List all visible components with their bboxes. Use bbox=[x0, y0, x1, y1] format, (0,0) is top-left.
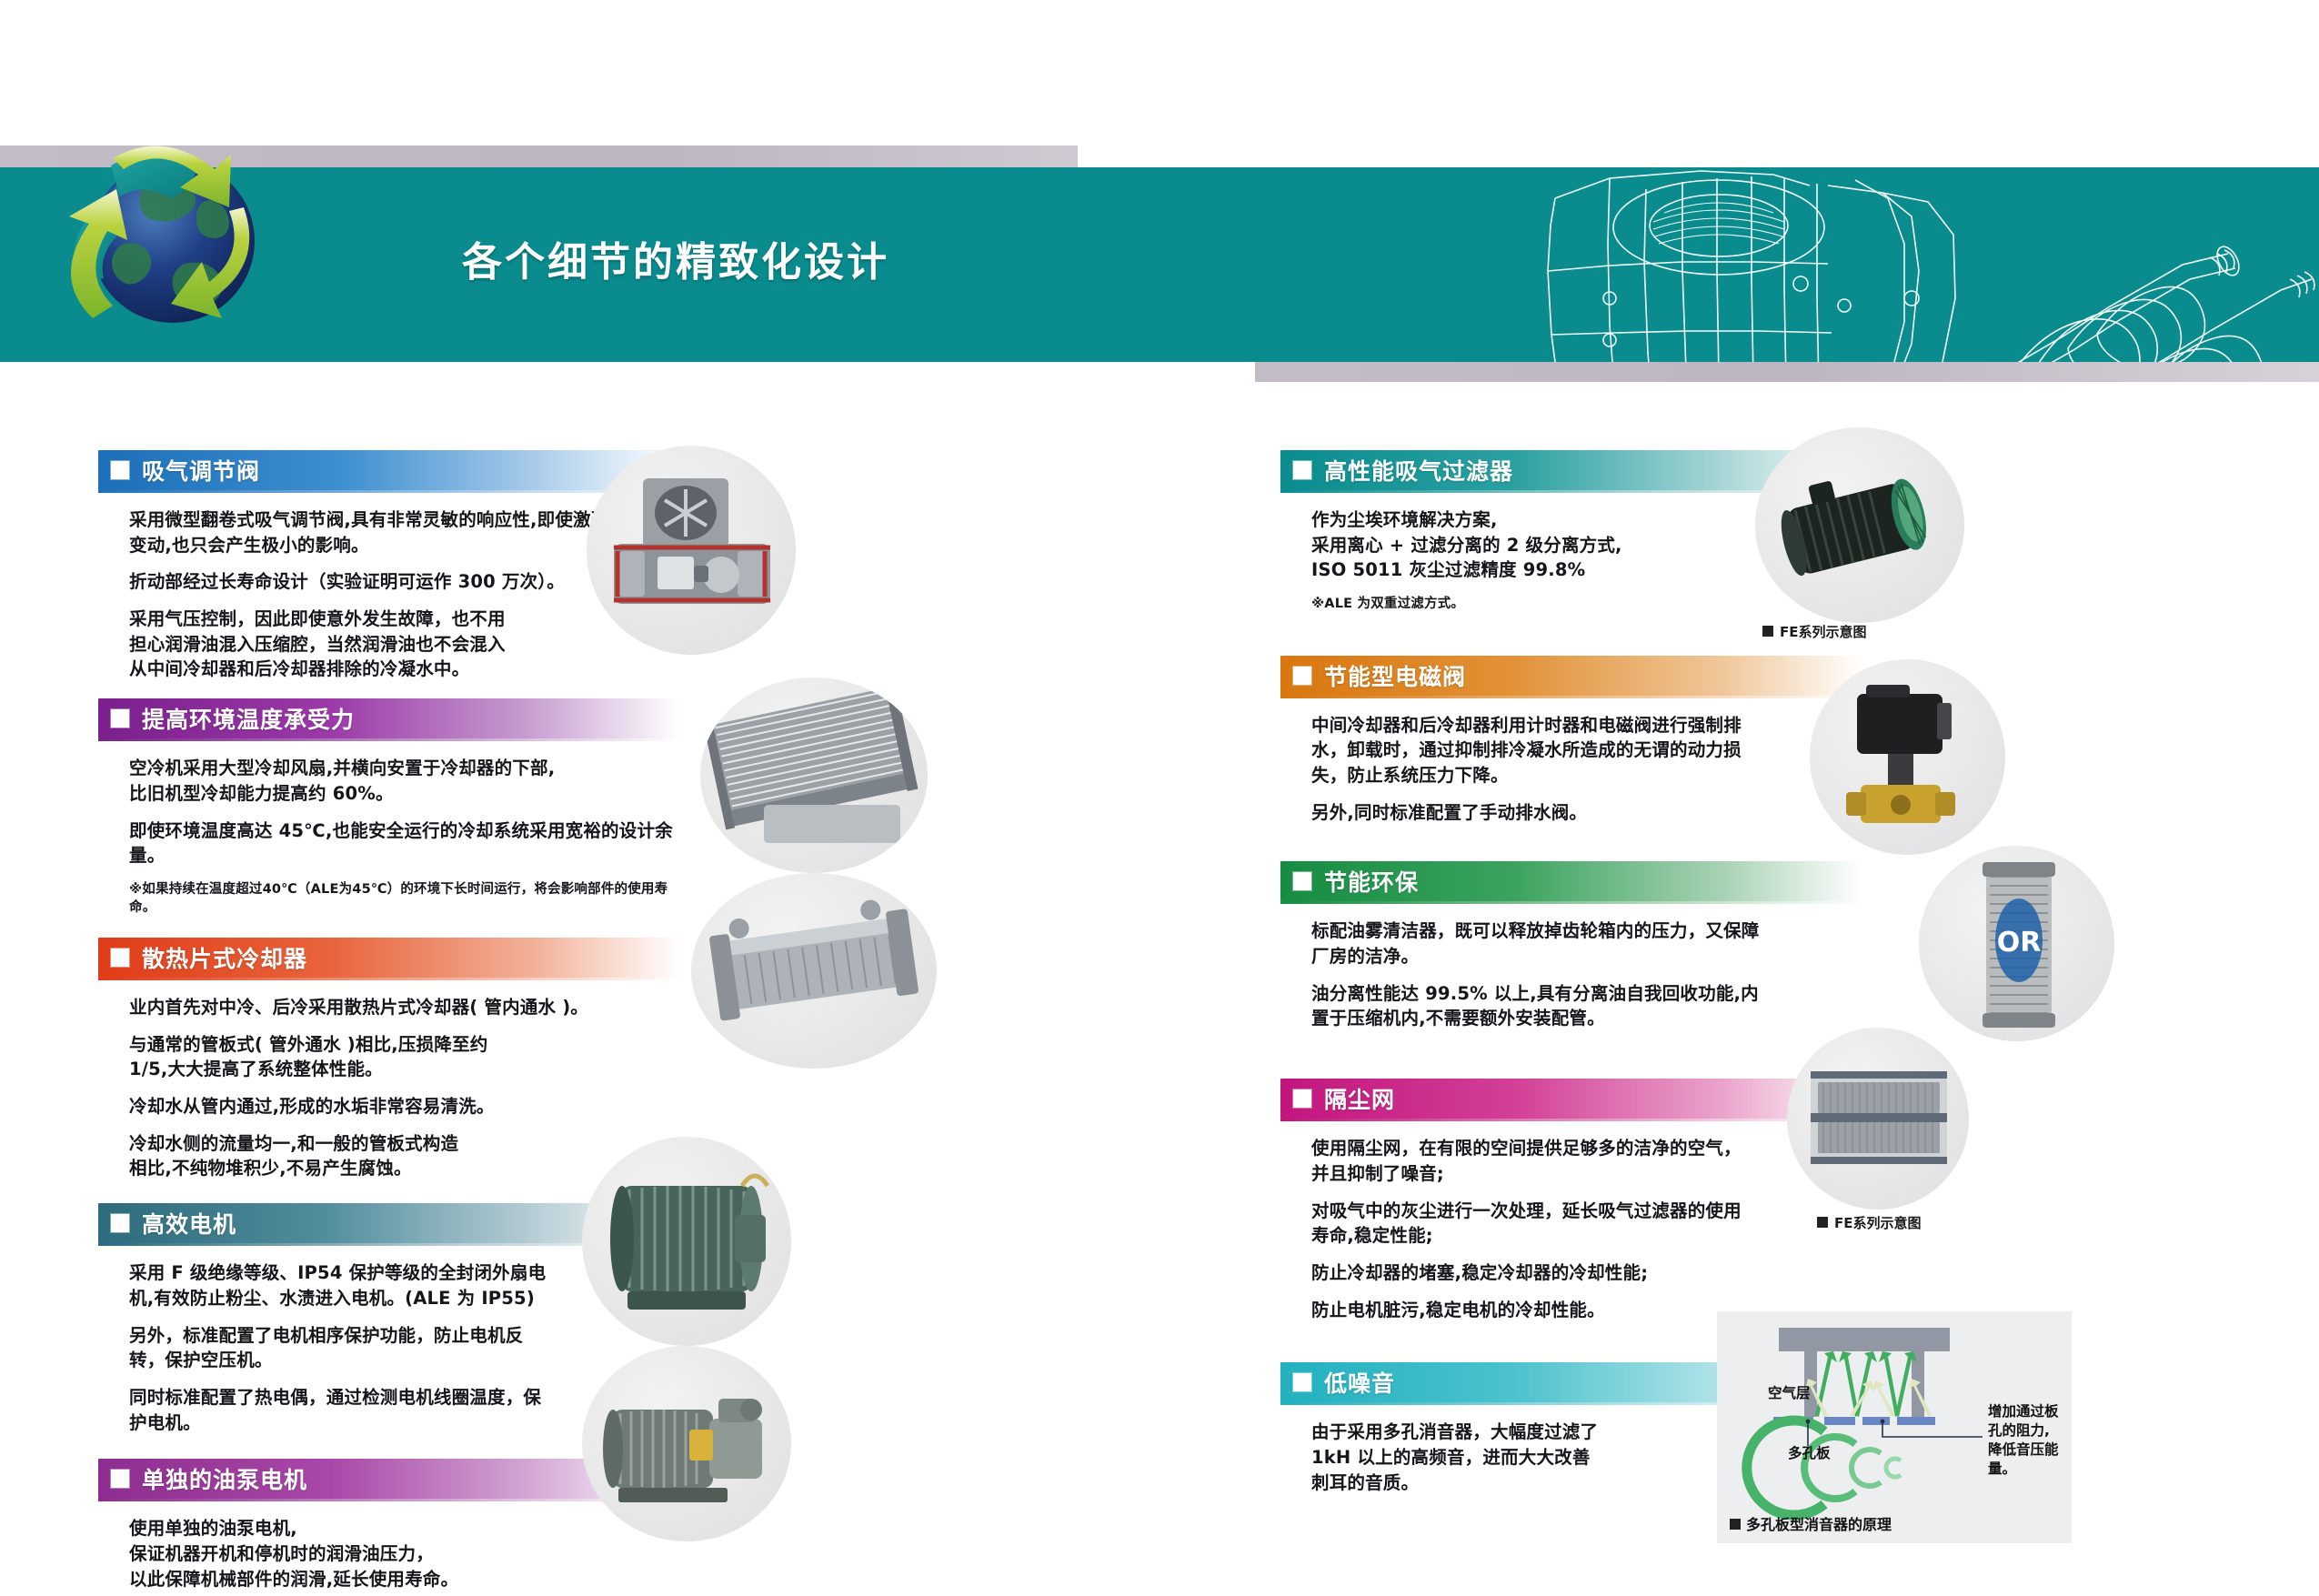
section-header-bar: 节能环保 bbox=[1280, 861, 1862, 901]
diagram-label-air-layer: 空气层 bbox=[1768, 1382, 1811, 1402]
separator-element-illustration: OR bbox=[1919, 846, 2114, 1041]
svg-text:OR: OR bbox=[1997, 927, 2042, 959]
bullet-square-icon bbox=[111, 1214, 129, 1232]
energy-saving-solenoid-valve-photo bbox=[1810, 659, 2005, 855]
bullet-square-icon bbox=[1293, 1373, 1311, 1391]
caption-text: FE系列示意图 bbox=[1834, 1215, 1922, 1231]
section-title: 高性能吸气过滤器 bbox=[1324, 454, 1513, 487]
section-body: 空冷机采用大型冷却风扇,并横向安置于冷却器的下部,比旧机型冷却能力提高约 60%… bbox=[98, 741, 680, 918]
paragraph: 以此保障机械部件的润滑,延长使用寿命。 bbox=[129, 1567, 680, 1592]
paragraph: 保证机器开机和停机时的润滑油压力， bbox=[129, 1541, 680, 1567]
cooler-illustration bbox=[700, 678, 928, 873]
fin-type-cooler-photo bbox=[691, 873, 937, 1069]
caption-square-icon bbox=[1730, 1519, 1741, 1530]
section-body: 标配油雾清洁器，既可以释放掉齿轮箱内的压力，又保障厂房的洁净。 油分离性能达 9… bbox=[1280, 904, 1862, 1031]
bullet-square-icon bbox=[1293, 461, 1311, 479]
dust-screen-illustration bbox=[1787, 1028, 1969, 1210]
brochure-page: 各个细节的精致化设计 吸气调节阀 采用微型翻卷式吸气调节阀,具有非常灵敏的响应性… bbox=[0, 0, 2319, 1596]
bullet-square-icon bbox=[111, 949, 129, 967]
header-teal-band bbox=[0, 167, 2319, 362]
air-filter-illustration bbox=[1755, 427, 1964, 623]
section-body: 使用隔尘网，在有限的空间提供足够多的洁净的空气，并且抑制了噪音; 对吸气中的灰尘… bbox=[1280, 1121, 1862, 1322]
section-title: 低噪音 bbox=[1324, 1366, 1395, 1399]
paragraph: 即使环境温度高达 45℃,也能安全运行的冷却系统采用宽裕的设计余量。 bbox=[129, 818, 693, 868]
perforated-plate-silencer-diagram: 空气层 多孔板 增加通过板孔的阻力,降低音压能量。 多孔板型消音器的原理 bbox=[1717, 1311, 2072, 1543]
diagram-footer: 多孔板型消音器的原理 bbox=[1730, 1512, 1892, 1534]
large-cooling-fan-photo bbox=[700, 678, 928, 873]
oil-pump-illustration bbox=[582, 1346, 791, 1541]
section-ambient-temperature: 提高环境温度承受力 空冷机采用大型冷却风扇,并横向安置于冷却器的下部,比旧机型冷… bbox=[98, 698, 680, 918]
compressor-screw-rotor-lineart bbox=[1501, 167, 2319, 362]
paragraph: 使用隔尘网，在有限的空间提供足够多的洁净的空气，并且抑制了噪音; bbox=[1311, 1136, 1748, 1186]
section-title: 散热片式冷却器 bbox=[142, 941, 307, 974]
suction-control-valve-photo bbox=[587, 446, 796, 655]
paragraph: 冷却水从管内通过,形成的水垢非常容易清洗。 bbox=[129, 1094, 680, 1119]
section-title: 节能型电磁阀 bbox=[1324, 659, 1466, 692]
section-header-bar: 散热片式冷却器 bbox=[98, 938, 680, 978]
motor-illustration bbox=[582, 1137, 791, 1346]
section-title: 单独的油泵电机 bbox=[142, 1462, 307, 1495]
paragraph: 冷却水侧的流量均一,和一般的管板式构造相比,不纯物堆积少,不易产生腐蚀。 bbox=[129, 1131, 475, 1181]
paragraph: 采用 F 级绝缘等级、IP54 保护等级的全封闭外扇电机,有效防止粉尘、水渍进入… bbox=[129, 1260, 547, 1310]
paragraph: 标配油雾清洁器，既可以释放掉齿轮箱内的压力，又保障厂房的洁净。 bbox=[1311, 918, 1766, 969]
photo-caption: FE系列示意图 bbox=[1817, 1213, 1922, 1232]
caption-square-icon bbox=[1762, 626, 1773, 637]
section-title: 高效电机 bbox=[142, 1207, 236, 1240]
paragraph: 另外,同时标准配置了手动排水阀。 bbox=[1311, 800, 1862, 826]
page-title: 各个细节的精致化设计 bbox=[462, 229, 889, 287]
bullet-square-icon bbox=[1293, 667, 1311, 685]
bullet-square-icon bbox=[1293, 872, 1311, 890]
paragraph: 与通常的管板式( 管外通水 )相比,压损降至约 1/5,大大提高了系统整体性能。 bbox=[129, 1032, 493, 1082]
bullet-square-icon bbox=[111, 709, 129, 728]
paragraph: 由于采用多孔消音器，大幅度过滤了 1kH 以上的高频音，进而大大改善刺耳的音质。 bbox=[1311, 1420, 1602, 1495]
paragraph: 油分离性能达 99.5% 以上,具有分离油自我回收功能,内置于压缩机内,不需要额… bbox=[1311, 981, 1771, 1031]
section-header-bar: 节能型电磁阀 bbox=[1280, 656, 1862, 696]
section-body: 中间冷却器和后冷却器利用计时器和电磁阀进行强制排水，卸载时，通过抑制排冷凝水所造… bbox=[1280, 698, 1862, 826]
diagram-label-perforated-plate: 多孔板 bbox=[1788, 1442, 1831, 1462]
oil-mist-separator-photo: OR bbox=[1919, 846, 2114, 1041]
high-efficiency-motor-photo bbox=[582, 1137, 791, 1346]
diagram-annotation: 增加通过板孔的阻力,降低音压能量。 bbox=[1988, 1402, 2061, 1479]
caption-text: FE系列示意图 bbox=[1780, 624, 1867, 640]
suction-air-filter-photo bbox=[1755, 427, 1964, 623]
dust-screen-photo bbox=[1787, 1028, 1969, 1210]
oil-pump-motor-photo bbox=[582, 1346, 791, 1541]
paragraph: 中间冷却器和后冷却器利用计时器和电磁阀进行强制排水，卸载时，通过抑制排冷凝水所造… bbox=[1311, 713, 1766, 788]
section-energy-saving-solenoid-valve: 节能型电磁阀 中间冷却器和后冷却器利用计时器和电磁阀进行强制排水，卸载时，通过抑… bbox=[1280, 656, 1862, 826]
section-header-bar: 提高环境温度承受力 bbox=[98, 698, 680, 738]
paragraph: 采用气压控制，因此即使意外发生故障，也不用担心润滑油混入压缩腔，当然润滑油也不会… bbox=[129, 607, 511, 682]
section-title: 吸气调节阀 bbox=[142, 454, 260, 487]
section-title: 隔尘网 bbox=[1324, 1082, 1395, 1115]
diagram-footer-text: 多孔板型消音器的原理 bbox=[1746, 1516, 1892, 1533]
section-header-bar: 隔尘网 bbox=[1280, 1079, 1862, 1119]
photo-caption: FE系列示意图 bbox=[1762, 622, 1867, 641]
header-grey-band-bottom bbox=[1255, 362, 2319, 382]
section-dust-screen: 隔尘网 使用隔尘网，在有限的空间提供足够多的洁净的空气，并且抑制了噪音; 对吸气… bbox=[1280, 1079, 1862, 1322]
section-energy-saving-environment: 节能环保 标配油雾清洁器，既可以释放掉齿轮箱内的压力，又保障厂房的洁净。 油分离… bbox=[1280, 861, 1862, 1031]
bullet-square-icon bbox=[111, 461, 129, 479]
recycle-globe-logo bbox=[56, 118, 284, 364]
note: ※如果持续在温度超过40℃（ALE为45℃）的环境下长时间运行，将会影响部件的使… bbox=[129, 880, 680, 918]
bullet-square-icon bbox=[1293, 1089, 1311, 1108]
paragraph: 防止冷却器的堵塞,稳定冷却器的冷却性能; bbox=[1311, 1260, 1862, 1286]
paragraph: 空冷机采用大型冷却风扇,并横向安置于冷却器的下部,比旧机型冷却能力提高约 60%… bbox=[129, 756, 557, 806]
solenoid-valve-illustration bbox=[1810, 659, 2005, 855]
section-title: 节能环保 bbox=[1324, 865, 1419, 898]
paragraph: 同时标准配置了热电偶，通过检测电机线圈温度，保护电机。 bbox=[129, 1385, 557, 1435]
cooler-tube-illustration bbox=[691, 873, 937, 1069]
valve-illustration bbox=[587, 446, 796, 655]
section-title: 提高环境温度承受力 bbox=[142, 702, 355, 735]
paragraph: 另外，标准配置了电机相序保护功能，防止电机反转，保护空压机。 bbox=[129, 1323, 538, 1373]
paragraph: 对吸气中的灰尘进行一次处理，延长吸气过滤器的使用寿命,稳定性能; bbox=[1311, 1199, 1748, 1249]
paragraph: 业内首先对中冷、后冷采用散热片式冷却器( 管内通水 )。 bbox=[129, 995, 680, 1020]
caption-square-icon bbox=[1817, 1217, 1828, 1228]
bullet-square-icon bbox=[111, 1470, 129, 1488]
